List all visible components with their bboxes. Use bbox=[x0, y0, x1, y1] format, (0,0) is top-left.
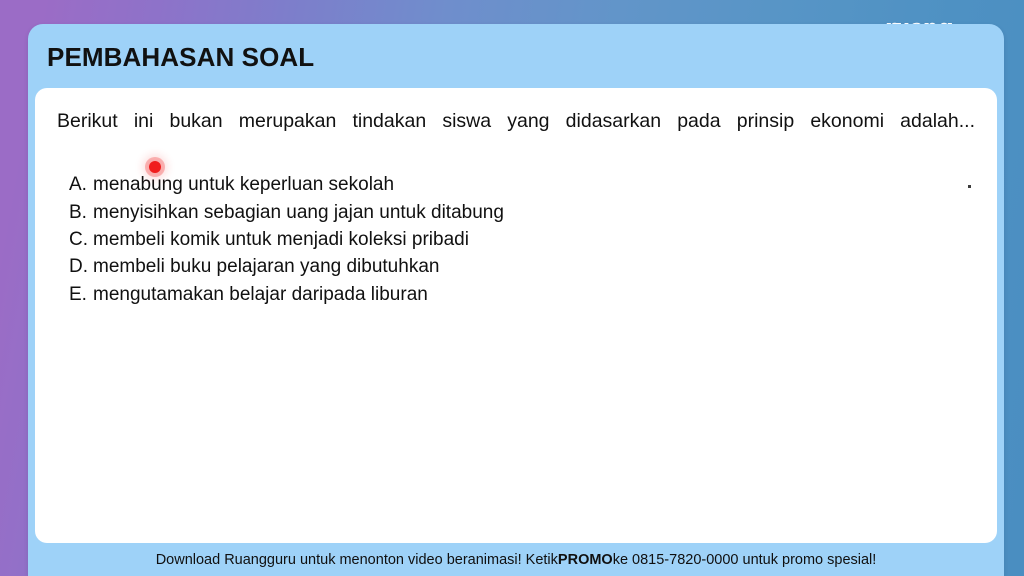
question-text: Berikut ini bukan merupakan tindakan sis… bbox=[57, 108, 975, 163]
slide-canvas: ruang guru PEMBAHASAN SOAL Berikut ini b… bbox=[0, 0, 1024, 576]
answer-option-d[interactable]: D.membeli buku pelajaran yang dibutuhkan bbox=[57, 253, 975, 280]
promo-text-after: ke 0815-7820-0000 untuk promo spesial! bbox=[613, 552, 877, 568]
promo-footer: Download Ruangguru untuk menonton video … bbox=[28, 543, 1004, 576]
promo-text-before: Download Ruangguru untuk menonton video … bbox=[156, 552, 558, 568]
page-title: PEMBAHASAN SOAL bbox=[47, 42, 314, 73]
promo-keyword: PROMO bbox=[558, 552, 613, 568]
option-key-d: D. bbox=[69, 253, 93, 280]
lesson-card: PEMBAHASAN SOAL Berikut ini bukan merupa… bbox=[28, 24, 1004, 576]
content-sheet: Berikut ini bukan merupakan tindakan sis… bbox=[35, 88, 997, 543]
option-text-e: mengutamakan belajar daripada liburan bbox=[93, 284, 428, 305]
option-key-c: C. bbox=[69, 226, 93, 253]
option-key-b: B. bbox=[69, 199, 93, 226]
option-key-e: E. bbox=[69, 281, 93, 308]
option-text-d: membeli buku pelajaran yang dibutuhkan bbox=[93, 256, 439, 277]
pixel-artifact bbox=[968, 185, 971, 188]
answer-option-a[interactable]: A.menabung untuk keperluan sekolah bbox=[57, 171, 975, 198]
option-text-b: menyisihkan sebagian uang jajan untuk di… bbox=[93, 202, 504, 223]
option-text-a: menabung untuk keperluan sekolah bbox=[93, 174, 394, 195]
answer-option-c[interactable]: C.membeli komik untuk menjadi koleksi pr… bbox=[57, 226, 975, 253]
answer-options-list: A.menabung untuk keperluan sekolah B.men… bbox=[57, 171, 975, 308]
option-key-a: A. bbox=[69, 171, 93, 198]
answer-option-e[interactable]: E.mengutamakan belajar daripada liburan bbox=[57, 281, 975, 308]
answer-option-b[interactable]: B.menyisihkan sebagian uang jajan untuk … bbox=[57, 199, 975, 226]
option-text-c: membeli komik untuk menjadi koleksi prib… bbox=[93, 229, 469, 250]
